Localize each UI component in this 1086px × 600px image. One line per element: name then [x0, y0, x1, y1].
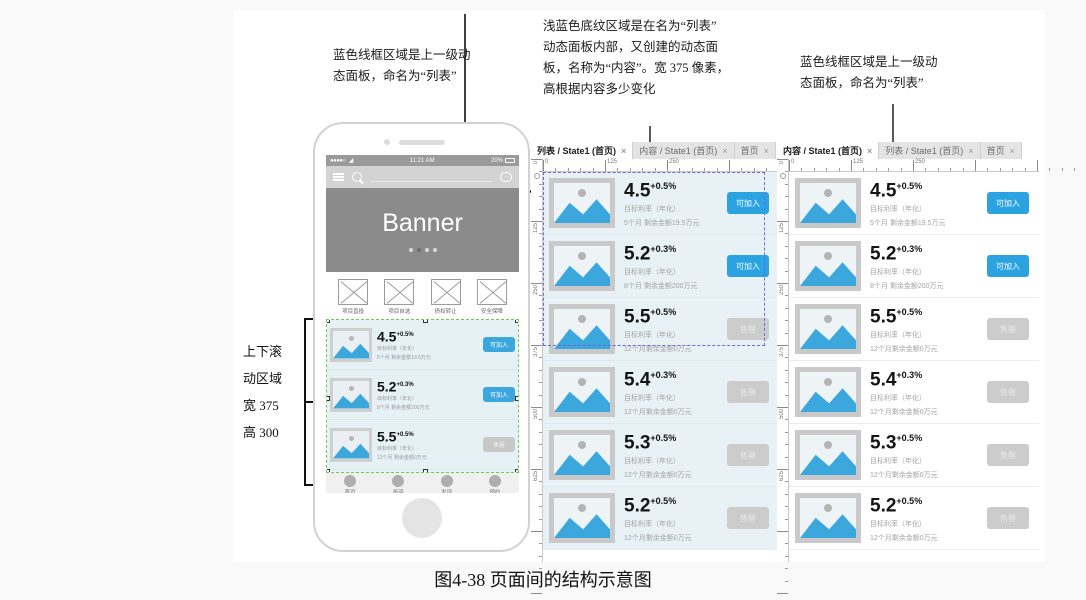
term-amount: 12个月剩余金额0万元 [624, 345, 727, 355]
ruler-tick [789, 160, 790, 171]
ruler-tick [1074, 168, 1075, 171]
banner-dot[interactable] [425, 248, 429, 252]
tabbar-label: 投资 [393, 488, 404, 493]
resize-handle-tl[interactable] [327, 320, 330, 323]
interest-rate: 5.5+0.5% [870, 303, 987, 326]
join-button[interactable]: 售罄 [727, 507, 769, 529]
quick-icon-label: 债权转让 [435, 307, 457, 315]
editor-tab-1[interactable]: 列表 / State1 (首页)× [879, 142, 980, 159]
resize-handle-bl[interactable] [327, 469, 330, 472]
row-info: 4.5+0.5%目标利率（年化）5个月 剩余金额19.5万元 [861, 177, 987, 228]
ruler-tick [766, 168, 767, 171]
phone-home-button[interactable] [402, 498, 442, 538]
ruler-tick [539, 494, 542, 495]
thumbnail-image-icon [330, 378, 372, 412]
tabbar-item-0[interactable]: 首页 [326, 475, 374, 493]
ruler-tick [531, 221, 542, 222]
table-row[interactable]: 5.4+0.3%目标利率（年化）12个月剩余金额0万元售罄 [543, 361, 779, 424]
join-button[interactable]: 售罄 [987, 444, 1029, 466]
annotation-middle: 浅蓝色底纹区域是在名为“列表” 动态面板内部，又创建的动态面 板，名称为“内容”… [543, 16, 758, 100]
home-icon [344, 475, 356, 487]
interest-rate: 4.5+0.5% [377, 328, 483, 344]
row-info: 5.3+0.5%目标利率（年化）12个月剩余金额0万元 [861, 429, 987, 480]
ruler-tick [655, 168, 656, 171]
rate-delta: +0.5% [650, 433, 676, 443]
ruler-label: 125 [533, 223, 539, 233]
editor-tab-label: 列表 / State1 (首页) [537, 144, 616, 157]
table-row[interactable]: 5.3+0.5%目标利率（年化）12个月剩余金额0万元售罄 [789, 424, 1039, 487]
ruler-tick [785, 543, 788, 544]
table-row[interactable]: 4.5+0.5%目标利率（年化）5个月 剩余金额19.5万元可加入 [543, 172, 779, 235]
ruler-label: 0 [779, 161, 785, 164]
banner-dot-active[interactable] [417, 248, 421, 252]
ruler-tick [876, 168, 877, 171]
ruler-tick [580, 168, 581, 171]
interest-rate: 5.5+0.5% [377, 428, 483, 444]
row-info: 5.2+0.5%目标利率（年化）12个月剩余金额0万元 [861, 492, 987, 543]
ruler-tick [617, 168, 618, 171]
placeholder-image-icon [384, 279, 414, 305]
interest-rate: 5.4+0.3% [624, 366, 727, 389]
tabbar-item-2[interactable]: 发现 [423, 475, 471, 493]
rate-delta: +0.5% [650, 181, 676, 191]
term-amount: 12个月剩余金额0万元 [870, 534, 987, 544]
editor-tab-1[interactable]: 内容 / State1 (首页)× [633, 142, 734, 159]
phone-statusbar: ●●●●○ ◢ 11:21 AM 20% [326, 155, 519, 166]
ruler-tick [785, 370, 788, 371]
search-icon[interactable] [352, 172, 362, 182]
ruler-tick [539, 271, 542, 272]
thumbnail-image-icon [549, 430, 615, 480]
ruler-tick [785, 209, 788, 210]
thumbnail-image-icon [795, 241, 861, 291]
quick-icon-1[interactable]: 项目自选 [384, 279, 414, 315]
chat-icon[interactable]: ··· [500, 172, 512, 182]
ruler-label: 500 [779, 409, 785, 419]
visibility-eye-icon[interactable] [534, 173, 540, 179]
resize-handle-mr[interactable] [515, 396, 518, 401]
join-button[interactable]: 售罄 [987, 507, 1029, 529]
thumbnail-image-icon [549, 493, 615, 543]
vertical-ruler-mid: 0125250375500625 [531, 159, 543, 562]
close-icon[interactable]: × [867, 146, 872, 156]
term-amount: 12个月剩余金额0万元 [624, 534, 727, 544]
ruler-tick [1037, 160, 1038, 171]
term-amount: 5个月 剩余金额19.5万元 [870, 219, 987, 229]
resize-handle-bc[interactable] [423, 469, 428, 472]
rate-caption: 目标利率（年化） [870, 268, 987, 278]
ruler-tick [785, 556, 788, 557]
join-button[interactable]: 可加入 [987, 192, 1029, 214]
rate-delta: +0.5% [396, 332, 413, 338]
table-row[interactable]: 5.2+0.3%目标利率（年化）8个月 剩余金额200万元可加入 [543, 235, 779, 298]
ruler-tick [785, 444, 788, 445]
ruler-tick [729, 160, 730, 171]
ruler-tick [785, 295, 788, 296]
row-info: 5.4+0.3%目标利率（年化）12个月剩余金额0万元 [615, 366, 727, 417]
row-info: 5.4+0.3%目标利率（年化）12个月剩余金额0万元 [861, 366, 987, 417]
thumbnail-image-icon [795, 178, 861, 228]
ruler-tick [605, 160, 606, 171]
ruler-tick [785, 196, 788, 197]
join-button[interactable]: 可加入 [727, 255, 769, 277]
rate-delta: +0.5% [396, 432, 413, 438]
thumbnail-image-icon [549, 241, 615, 291]
search-field[interactable] [370, 181, 492, 182]
ruler-tick [777, 221, 788, 222]
table-row[interactable]: 5.5+0.5%目标利率（年化）12个月剩余金额0万元售罄 [789, 298, 1039, 361]
ruler-tick [785, 258, 788, 259]
rate-caption: 目标利率（年化） [377, 445, 483, 452]
banner-dot[interactable] [433, 248, 437, 252]
editor-tabstrip-right: 内容 / State1 (首页)×列表 / State1 (首页)×首页× [777, 142, 1039, 159]
ruler-tick [539, 481, 542, 482]
placeholder-image-icon [431, 279, 461, 305]
thumbnail-image-icon [330, 328, 372, 362]
discover-icon [441, 475, 453, 487]
resize-handle-br[interactable] [515, 469, 518, 472]
ruler-tick [539, 196, 542, 197]
editor-tab-0[interactable]: 内容 / State1 (首页)× [777, 142, 879, 159]
battery-percent: 20% [491, 158, 503, 164]
scroll-area-label: 上下滚 动区域 宽 375 高 300 [243, 338, 313, 446]
rate-caption: 目标利率（年化） [624, 205, 727, 215]
ruler-tick [785, 320, 788, 321]
ruler-tick [539, 246, 542, 247]
ruler-tick [777, 407, 788, 408]
editor-tabstrip-mid: 列表 / State1 (首页)×内容 / State1 (首页)×首页× [531, 142, 779, 159]
phone-mockup: ●●●●○ ◢ 11:21 AM 20% ··· Banner [313, 122, 530, 552]
table-row[interactable]: 4.5+0.5%目标利率（年化）5个月 剩余金额19.5万元可加入 [789, 172, 1039, 235]
ruler-tick [975, 160, 976, 171]
ruler-tick [539, 308, 542, 309]
join-button[interactable]: 售罄 [987, 318, 1029, 340]
ruler-tick [539, 357, 542, 358]
figure-caption: 图4-38 页面间的结构示意图 [0, 566, 1086, 592]
ruler-tick [785, 457, 788, 458]
resize-handle-tc[interactable] [423, 320, 428, 323]
rate-caption: 目标利率（年化） [377, 395, 483, 402]
ruler-tick [901, 168, 902, 171]
signal-dots-icon: ●●●●○ [330, 158, 346, 164]
ruler-tick [539, 209, 542, 210]
term-amount: 5个月 剩余金额19.5万元 [377, 354, 483, 361]
quick-icon-2[interactable]: 债权转让 [431, 279, 461, 315]
ruler-tick [785, 506, 788, 507]
join-button[interactable]: 售罄 [483, 437, 515, 452]
phone-card-list: 4.5+0.5%目标利率（年化）5个月 剩余金额19.5万元可加入5.2+0.3… [327, 320, 518, 470]
term-amount: 12个月剩余金额0万元 [870, 471, 987, 481]
editor-canvas-mid[interactable]: 4.5+0.5%目标利率（年化）5个月 剩余金额19.5万元可加入5.2+0.3… [543, 172, 779, 562]
table-row[interactable]: 5.2+0.5%目标利率（年化）12个月剩余金额0万元售罄 [543, 487, 779, 550]
ruler-tick [777, 283, 788, 284]
ruler-tick [630, 168, 631, 171]
quick-icon-row: 项目直投 项目自选 债权转让 安全保障 [326, 272, 519, 318]
quick-icon-label: 安全保障 [481, 307, 503, 315]
ruler-tick [539, 295, 542, 296]
rate-delta: +0.5% [896, 496, 922, 506]
quick-icon-0[interactable]: 项目直投 [338, 279, 368, 315]
ruler-label: 250 [915, 159, 925, 165]
join-button[interactable]: 可加入 [483, 387, 515, 402]
banner-text: Banner [382, 209, 463, 238]
editor-tab-2[interactable]: 首页× [981, 142, 1022, 159]
tabbar-item-3[interactable]: 预约 [471, 475, 519, 493]
join-button[interactable]: 可加入 [987, 255, 1029, 277]
rate-delta: +0.3% [396, 382, 413, 388]
term-amount: 12个月剩余金额0万元 [624, 408, 727, 418]
join-button[interactable]: 售罄 [727, 381, 769, 403]
quick-icon-label: 项目直投 [342, 307, 364, 315]
editor-tab-label: 列表 / State1 (首页) [885, 144, 963, 157]
ruler-tick [704, 168, 705, 171]
ruler-tick [785, 233, 788, 234]
ruler-tick [777, 159, 788, 160]
interest-rate: 5.5+0.5% [624, 303, 727, 326]
ruler-tick [785, 382, 788, 383]
ruler-label: 625 [533, 471, 539, 481]
rate-caption: 目标利率（年化） [624, 520, 727, 530]
annotation-left: 蓝色线框区域是上一级动 态面板，命名为“列表” [333, 45, 518, 87]
ruler-label: 125 [853, 159, 863, 165]
ruler-tick [531, 159, 542, 160]
close-icon[interactable]: × [764, 146, 769, 156]
ruler-tick [913, 160, 914, 171]
rate-caption: 目标利率（年化） [624, 457, 727, 467]
banner-dots[interactable] [409, 248, 437, 252]
thumbnail-image-icon [549, 367, 615, 417]
invest-icon [392, 475, 404, 487]
ruler-label: 0 [791, 159, 794, 165]
ruler-tick [543, 160, 544, 171]
ruler-label: 375 [533, 347, 539, 357]
ruler-tick [531, 407, 542, 408]
ruler-label: 0 [545, 159, 548, 165]
phone-list-item[interactable]: 4.5+0.5%目标利率（年化）5个月 剩余金额19.5万元可加入 [327, 320, 518, 370]
ruler-tick [863, 168, 864, 171]
ruler-tick [1062, 168, 1063, 171]
term-amount: 12个月 剩余金额0万元 [377, 454, 483, 461]
row-info: 5.3+0.5%目标利率（年化）12个月剩余金额0万元 [615, 429, 727, 480]
thumbnail-image-icon [795, 367, 861, 417]
ruler-tick [888, 168, 889, 171]
ruler-tick [925, 168, 926, 171]
join-button[interactable]: 售罄 [727, 318, 769, 340]
card-list-right: 4.5+0.5%目标利率（年化）5个月 剩余金额19.5万元可加入5.2+0.3… [789, 172, 1039, 550]
term-amount: 12个月剩余金额0万元 [870, 408, 987, 418]
ruler-tick [539, 543, 542, 544]
rate-caption: 目标利率（年化） [870, 520, 987, 530]
rate-delta: +0.5% [896, 433, 922, 443]
ruler-tick [785, 271, 788, 272]
row-info: 5.2+0.5%目标利率（年化）12个月剩余金额0万元 [615, 492, 727, 543]
table-row[interactable]: 5.5+0.5%目标利率（年化）12个月剩余金额0万元售罄 [543, 298, 779, 361]
join-button[interactable]: 可加入 [483, 337, 515, 352]
close-icon[interactable]: × [1010, 146, 1015, 156]
ruler-tick [785, 481, 788, 482]
rate-delta: +0.5% [650, 307, 676, 317]
ruler-tick [814, 168, 815, 171]
ruler-tick [531, 469, 542, 470]
table-row[interactable]: 5.4+0.3%目标利率（年化）12个月剩余金额0万元售罄 [789, 361, 1039, 424]
rate-caption: 目标利率（年化） [624, 331, 727, 341]
row-info: 5.5+0.5%目标利率（年化）12个月剩余金额0万元 [615, 303, 727, 354]
table-row[interactable]: 5.2+0.3%目标利率（年化）8个月 剩余金额200万元可加入 [789, 235, 1039, 298]
hamburger-icon[interactable] [333, 173, 344, 181]
ruler-tick [531, 283, 542, 284]
interest-rate: 5.4+0.3% [870, 366, 987, 389]
ruler-tick [785, 184, 788, 185]
ruler-tick [555, 168, 556, 171]
join-button[interactable]: 售罄 [987, 381, 1029, 403]
rate-caption: 目标利率（年化） [870, 457, 987, 467]
phone-list-item[interactable]: 5.2+0.3%目标利率（年化）8个月 剩余金额200万元可加入 [327, 370, 518, 420]
ruler-tick [593, 168, 594, 171]
ruler-tick [785, 357, 788, 358]
rate-caption: 目标利率（年化） [870, 331, 987, 341]
term-amount: 8个月 剩余金额200万元 [870, 282, 987, 292]
ruler-tick [785, 246, 788, 247]
editor-panel-content: 内容 / State1 (首页)×列表 / State1 (首页)×首页× 01… [777, 142, 1039, 562]
interest-rate: 4.5+0.5% [870, 177, 987, 200]
interest-rate: 5.2+0.5% [870, 492, 987, 515]
ruler-label: 250 [779, 285, 785, 295]
rate-delta: +0.3% [896, 244, 922, 254]
thumbnail-image-icon [549, 178, 615, 228]
ruler-tick [539, 395, 542, 396]
ruler-tick [785, 395, 788, 396]
term-amount: 8个月 剩余金额200万元 [624, 282, 727, 292]
editor-canvas-right[interactable]: 4.5+0.5%目标利率（年化）5个月 剩余金额19.5万元可加入5.2+0.3… [789, 172, 1039, 562]
ruler-tick [539, 556, 542, 557]
close-icon[interactable]: × [968, 146, 973, 156]
table-row[interactable]: 5.3+0.5%目标利率（年化）12个月剩余金额0万元售罄 [543, 424, 779, 487]
editor-tab-0[interactable]: 列表 / State1 (首页)× [531, 142, 633, 159]
horizontal-ruler-right: 0125250 [789, 159, 1039, 172]
ruler-label: 625 [779, 471, 785, 481]
row-info: 5.5+0.5%目标利率（年化）12个月剩余金额0万元 [861, 303, 987, 354]
reserve-icon [489, 475, 501, 487]
interest-rate: 5.2+0.3% [870, 240, 987, 263]
ruler-tick [539, 258, 542, 259]
ruler-tick [539, 233, 542, 234]
banner[interactable]: Banner [326, 188, 519, 272]
table-row[interactable]: 5.2+0.5%目标利率（年化）12个月剩余金额0万元售罄 [789, 487, 1039, 550]
ruler-tick [801, 168, 802, 171]
banner-dot[interactable] [409, 248, 413, 252]
rate-caption: 目标利率（年化） [870, 205, 987, 215]
ruler-tick [987, 168, 988, 171]
editor-tab-label: 内容 / State1 (首页) [783, 144, 862, 157]
ruler-tick [531, 593, 542, 594]
ruler-tick [539, 419, 542, 420]
placeholder-image-icon [338, 279, 368, 305]
visibility-eye-icon[interactable] [780, 173, 786, 179]
ruler-tick [741, 168, 742, 171]
quick-icon-3[interactable]: 安全保障 [477, 279, 507, 315]
editor-panel-list: 列表 / State1 (首页)×内容 / State1 (首页)×首页× 01… [531, 142, 779, 562]
ruler-tick [1049, 168, 1050, 171]
ruler-label: 125 [779, 223, 785, 233]
ruler-label: 0 [533, 161, 539, 164]
ruler-tick [851, 160, 852, 171]
ruler-tick [539, 432, 542, 433]
ruler-tick [1025, 168, 1026, 171]
join-button[interactable]: 可加入 [727, 192, 769, 214]
ruler-tick [539, 184, 542, 185]
editor-tab-label: 首页 [741, 144, 759, 157]
rate-delta: +0.3% [650, 370, 676, 380]
ruler-tick [539, 333, 542, 334]
editor-tab-label: 首页 [987, 144, 1005, 157]
phone-speaker [399, 140, 445, 145]
phone-tabbar: 首页 投资 发现 预约 [326, 472, 519, 493]
term-amount: 8个月 剩余金额200万元 [377, 404, 483, 411]
phone-list-item[interactable]: 5.5+0.5%目标利率（年化）12个月 剩余金额0万元售罄 [327, 420, 518, 470]
list-item-info: 4.5+0.5%目标利率（年化）5个月 剩余金额19.5万元 [372, 328, 483, 362]
ruler-label: 375 [779, 347, 785, 357]
editor-tab-2[interactable]: 首页× [735, 142, 776, 159]
vertical-ruler-right: 0125250375500625 [777, 159, 789, 562]
ruler-tick [539, 457, 542, 458]
phone-scroll-region[interactable]: 4.5+0.5%目标利率（年化）5个月 剩余金额19.5万元可加入5.2+0.3… [327, 320, 518, 472]
rate-delta: +0.3% [650, 244, 676, 254]
ruler-label: 125 [607, 159, 617, 165]
close-icon[interactable]: × [722, 146, 727, 156]
ruler-tick [785, 419, 788, 420]
ruler-tick [1000, 168, 1001, 171]
ruler-tick [839, 168, 840, 171]
ruler-tick [539, 171, 542, 172]
thumbnail-image-icon [795, 493, 861, 543]
rate-caption: 目标利率（年化） [377, 345, 483, 352]
row-info: 4.5+0.5%目标利率（年化）5个月 剩余金额19.5万元 [615, 177, 727, 228]
ruler-tick [667, 160, 668, 171]
ruler-tick [777, 469, 788, 470]
ruler-tick [777, 345, 788, 346]
ruler-tick [531, 531, 542, 532]
ruler-tick [539, 444, 542, 445]
phone-screen: ●●●●○ ◢ 11:21 AM 20% ··· Banner [326, 155, 519, 493]
ruler-tick [785, 432, 788, 433]
interest-rate: 5.2+0.5% [624, 492, 727, 515]
ruler-tick [785, 519, 788, 520]
quick-icon-label: 项目自选 [388, 307, 410, 315]
resize-handle-tr[interactable] [515, 320, 518, 323]
ruler-tick [539, 370, 542, 371]
ruler-tick [754, 168, 755, 171]
ruler-label: 250 [533, 285, 539, 295]
row-info: 5.2+0.3%目标利率（年化）8个月 剩余金额200万元 [615, 240, 727, 291]
list-item-info: 5.5+0.5%目标利率（年化）12个月 剩余金额0万元 [372, 428, 483, 462]
annotation-right: 蓝色线框区域是上一级动 态面板，命名为“列表” [800, 52, 990, 94]
tabbar-item-1[interactable]: 投资 [374, 475, 422, 493]
interest-rate: 4.5+0.5% [624, 177, 727, 200]
join-button[interactable]: 售罄 [727, 444, 769, 466]
close-icon[interactable]: × [621, 146, 626, 156]
ruler-tick [777, 593, 788, 594]
editor-tab-label: 内容 / State1 (首页) [639, 144, 717, 157]
ruler-tick [642, 168, 643, 171]
list-item-info: 5.2+0.3%目标利率（年化）8个月 剩余金额200万元 [372, 378, 483, 412]
ruler-tick [785, 333, 788, 334]
thumbnail-image-icon [330, 428, 372, 462]
ruler-label: 500 [533, 409, 539, 419]
ruler-tick [539, 519, 542, 520]
tabbar-label: 首页 [345, 488, 356, 493]
tabbar-label: 预约 [489, 488, 500, 493]
ruler-tick [717, 168, 718, 171]
